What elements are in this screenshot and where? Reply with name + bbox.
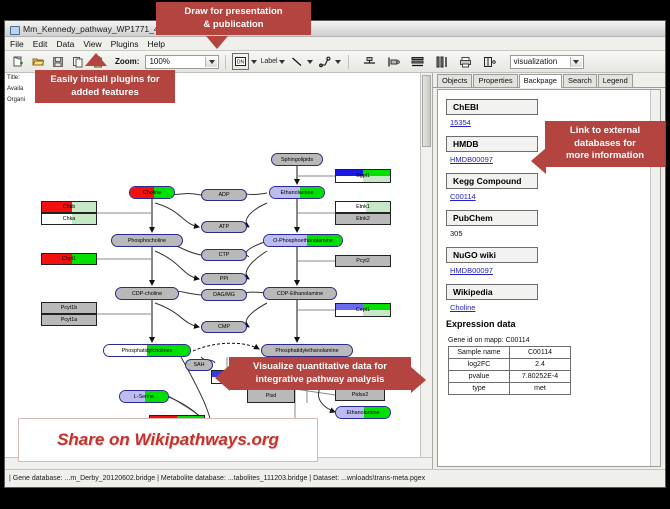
pathway-node-label: Phosphocholine <box>128 238 166 244</box>
interaction-dropdown-icon[interactable] <box>335 56 342 68</box>
table-row: Sample nameC00114 <box>449 347 571 359</box>
tab-legend[interactable]: Legend <box>598 74 633 87</box>
align-center-icon[interactable] <box>361 53 378 70</box>
menu-item-edit[interactable]: Edit <box>33 39 48 49</box>
menu-item-file[interactable]: File <box>10 39 24 49</box>
print-icon[interactable] <box>457 53 474 70</box>
pathway-editor-pane[interactable]: Title: Availa Organi <box>5 73 433 469</box>
callout-draw-text: Draw for presentation& publication <box>184 6 282 30</box>
expression-key: log2FC <box>449 359 510 371</box>
pathway-node-sah[interactable]: SAH <box>185 359 213 371</box>
pathway-node-dagmg[interactable]: DAG/MG <box>201 289 247 301</box>
callout-links-arrow-icon <box>531 148 546 174</box>
distribute-horizontal-icon[interactable] <box>433 53 450 70</box>
open-folder-icon[interactable] <box>29 53 46 70</box>
callout-links: Link to externaldatabases formore inform… <box>545 121 665 167</box>
zoom-combo[interactable]: 100% <box>145 55 219 69</box>
pathway-node-label: Etnk1 <box>356 204 370 210</box>
zoom-value: 100% <box>149 57 169 66</box>
interaction-tool[interactable] <box>317 53 342 70</box>
menu-item-plugins[interactable]: Plugins <box>111 39 139 49</box>
callout-share-text: Share on Wikipathways.org <box>57 430 279 450</box>
pathway-node-label: ATP <box>219 224 229 230</box>
pathway-node-label: Chka <box>63 216 76 222</box>
expression-value: 2.4 <box>510 359 571 371</box>
pathway-node-ophosphoethanolamine[interactable]: O-Phosphoethanolamine <box>263 234 343 247</box>
datanode-tool[interactable]: DN <box>232 53 257 70</box>
save-icon[interactable] <box>49 53 66 70</box>
callout-visualize: Visualize quantitative data forintegrati… <box>229 357 411 390</box>
callout-links-text: Link to externaldatabases formore inform… <box>566 125 644 161</box>
datanode-icon[interactable]: DN <box>232 53 249 70</box>
expression-value: C00114 <box>510 347 571 359</box>
line-icon[interactable] <box>289 53 306 70</box>
gene-id-label: Gene id on mapp: C00114 <box>448 337 660 344</box>
pathway-node-label: Pcyt1b <box>61 305 77 311</box>
db-section-header: PubChem <box>446 210 538 226</box>
label-tool-text: Label <box>260 58 277 65</box>
visualization-combo[interactable]: visualization <box>510 55 584 69</box>
pathway-node-adp[interactable]: ADP <box>201 189 247 201</box>
pathway-node-pcyt1b[interactable]: Pcyt1b <box>41 302 97 314</box>
expression-key: Sample name <box>449 347 510 359</box>
db-section-header: Wikipedia <box>446 284 538 300</box>
pathway-node-cdpethanolamine[interactable]: CDP-Ethanolamine <box>263 287 337 300</box>
pathway-node-choline_top[interactable]: Choline <box>129 186 175 199</box>
visualization-chevron-icon[interactable] <box>570 57 582 67</box>
pathway-node-label: Sphingolipids <box>281 157 313 163</box>
label-dropdown-icon[interactable] <box>279 56 286 68</box>
new-file-icon[interactable] <box>9 53 26 70</box>
pathway-node-pcyt2[interactable]: Pcyt2 <box>335 255 391 267</box>
pathway-node-label: CTP <box>219 252 230 258</box>
pathway-node-label: Ethanolamine <box>281 190 314 196</box>
db-section-link[interactable]: C00114 <box>450 192 660 201</box>
tab-search[interactable]: Search <box>563 74 597 87</box>
pathway-node-phosphatidylcholines[interactable]: Phosphatidylcholines <box>103 344 191 357</box>
pathway-node-label: CDP-choline <box>132 291 162 297</box>
tab-objects[interactable]: Objects <box>437 74 472 87</box>
line-dropdown-icon[interactable] <box>307 56 314 68</box>
pathway-node-phosphatidylethanolamine[interactable]: Phosphatidylethanolamine <box>261 344 353 357</box>
pathway-node-label: Choline <box>143 190 161 196</box>
db-section-value: 305 <box>450 229 660 238</box>
pathway-node-cdpcholine[interactable]: CDP-choline <box>115 287 179 300</box>
pathway-node-sphingolipids[interactable]: Sphingolipids <box>271 153 323 166</box>
pathway-node-label: Ptdss2 <box>352 392 368 398</box>
pathway-node-label: O-Phosphoethanolamine <box>273 238 333 244</box>
table-row: pvalue7.80252E-4 <box>449 371 571 383</box>
menu-item-help[interactable]: Help <box>148 39 165 49</box>
pathway-node-label: CDP-Ethanolamine <box>277 291 323 297</box>
node-fill <box>72 214 96 224</box>
title-bar: Mm_Kennedy_pathway_WP1771_45176.gpml <box>5 21 665 37</box>
status-bar: | Gene database: ...m_Derby_20120602.bri… <box>5 469 665 487</box>
table-row: log2FC2.4 <box>449 359 571 371</box>
datanode-dropdown-icon[interactable] <box>250 56 257 68</box>
pathway-canvas[interactable]: Title: Availa Organi <box>5 73 432 469</box>
pathway-node-label: Chkb <box>63 204 76 210</box>
pathway-node-sgpl1[interactable]: Sgpl1 <box>335 169 391 183</box>
table-row: typemet <box>449 383 571 395</box>
pathway-node-label: Ethanolamine <box>347 410 380 416</box>
toolbar-separator <box>225 55 226 69</box>
pathway-node-cept1[interactable]: Cept1 <box>335 303 391 317</box>
pathway-node-ctp[interactable]: CTP <box>201 249 247 261</box>
distribute-vertical-icon[interactable] <box>409 53 426 70</box>
expression-key: pvalue <box>449 371 510 383</box>
expression-key: type <box>449 383 510 395</box>
callout-visualize-text: Visualize quantitative data forintegrati… <box>253 361 387 385</box>
line-tool[interactable] <box>289 53 314 70</box>
expression-value: 7.80252E-4 <box>510 371 571 383</box>
pathway-node-cmp[interactable]: CMP <box>201 321 247 333</box>
status-bar-text: | Gene database: ...m_Derby_20120602.bri… <box>9 475 425 482</box>
pathway-node-label: Pisd <box>266 393 277 399</box>
pathway-node-label: Chpt1 <box>62 256 76 262</box>
callout-visualize-arrow-right-icon <box>411 367 426 393</box>
callout-plugins-text: Easily install plugins foradded features <box>50 74 159 98</box>
pathway-node-label: Cept1 <box>356 307 370 313</box>
interaction-icon[interactable] <box>317 53 334 70</box>
pathway-node-ethanolamine_top[interactable]: Ethanolamine <box>269 186 325 199</box>
pathway-node-label: DAG/MG <box>213 292 235 298</box>
pathway-node-label: L-Serine <box>134 394 154 400</box>
zoom-label: Zoom: <box>115 57 139 66</box>
tab-properties[interactable]: Properties <box>473 74 517 87</box>
pathway-node-label: Pcyt1a <box>61 317 77 323</box>
pathway-node-ppi[interactable]: PPi <box>201 273 247 285</box>
pathway-node-etnk2[interactable]: Etnk2 <box>335 213 391 225</box>
menu-bar: File Edit Data View Plugins Help <box>5 37 665 51</box>
align-left-icon[interactable] <box>385 53 402 70</box>
expression-table: Sample nameC00114log2FC2.4pvalue7.80252E… <box>448 346 571 395</box>
pathway-node-label: Sgpl1 <box>356 173 370 179</box>
pathway-node-lserine_left[interactable]: L-Serine <box>119 390 169 403</box>
pathway-node-label: Phosphatidylcholines <box>122 348 173 354</box>
expression-data-heading: Expression data <box>446 319 660 329</box>
canvas-vertical-scrollbar[interactable] <box>420 73 432 469</box>
menu-item-view[interactable]: View <box>83 39 101 49</box>
pathway-node-label: Phosphatidylethanolamine <box>275 348 338 354</box>
callout-visualize-arrow-icon <box>215 365 230 391</box>
pathway-node-label: Etnk2 <box>356 216 370 222</box>
copy-icon[interactable] <box>69 53 86 70</box>
chevron-down-icon[interactable] <box>205 57 217 67</box>
tab-backpage[interactable]: Backpage <box>519 74 562 88</box>
pathway-node-label: SAH <box>193 362 204 368</box>
label-tool[interactable]: Label <box>260 56 285 68</box>
sidebar-toggle-icon[interactable] <box>481 53 498 70</box>
sidebar-tabs: Objects Properties Backpage Search Legen… <box>433 73 665 88</box>
callout-plugins: Easily install plugins foradded features <box>35 70 175 103</box>
toolbar-separator-2 <box>348 55 349 69</box>
pathway-node-etnk1[interactable]: Etnk1 <box>335 201 391 213</box>
pathway-node-phosphocholine[interactable]: Phosphocholine <box>111 234 183 247</box>
callout-draw-arrow-icon <box>206 36 228 49</box>
pathway-node-chkb[interactable]: Chkb <box>41 201 97 213</box>
pathway-node-atp[interactable]: ATP <box>201 221 247 233</box>
pathway-node-label: PPi <box>220 276 228 282</box>
pathway-node-chpt1[interactable]: Chpt1 <box>41 253 97 265</box>
db-section-header: NuGO wiki <box>446 247 538 263</box>
db-section-header: ChEBI <box>446 99 538 115</box>
callout-share: Share on Wikipathways.org <box>18 418 318 462</box>
pathway-node-chka[interactable]: Chka <box>41 213 97 225</box>
expression-value: met <box>510 383 571 395</box>
pathway-node-pcyt1a[interactable]: Pcyt1a <box>41 314 97 326</box>
db-section-header: Kegg Compound <box>446 173 538 189</box>
app-icon <box>9 24 19 34</box>
callout-plugins-arrow-icon <box>85 53 107 66</box>
db-section-link[interactable]: Choline <box>450 303 660 312</box>
pathway-node-label: CMP <box>218 324 230 330</box>
screenshot-root: Mm_Kennedy_pathway_WP1771_45176.gpml Fil… <box>0 0 670 509</box>
visualization-value: visualization <box>514 57 558 66</box>
svg-text:DN: DN <box>237 60 245 66</box>
pathway-node-ethanolamine_right[interactable]: Ethanolamine <box>335 406 391 419</box>
pathway-node-label: Pcyt2 <box>356 258 369 264</box>
db-section-header: HMDB <box>446 136 538 152</box>
callout-draw: Draw for presentation& publication <box>156 2 311 35</box>
pathway-node-pisd[interactable]: Pisd <box>247 389 295 403</box>
canvas-vertical-thumb[interactable] <box>422 75 431 147</box>
node-fill <box>72 202 96 212</box>
pathway-node-label: ADP <box>218 192 229 198</box>
menu-item-data[interactable]: Data <box>56 39 74 49</box>
db-section-link[interactable]: HMDB00097 <box>450 266 660 275</box>
